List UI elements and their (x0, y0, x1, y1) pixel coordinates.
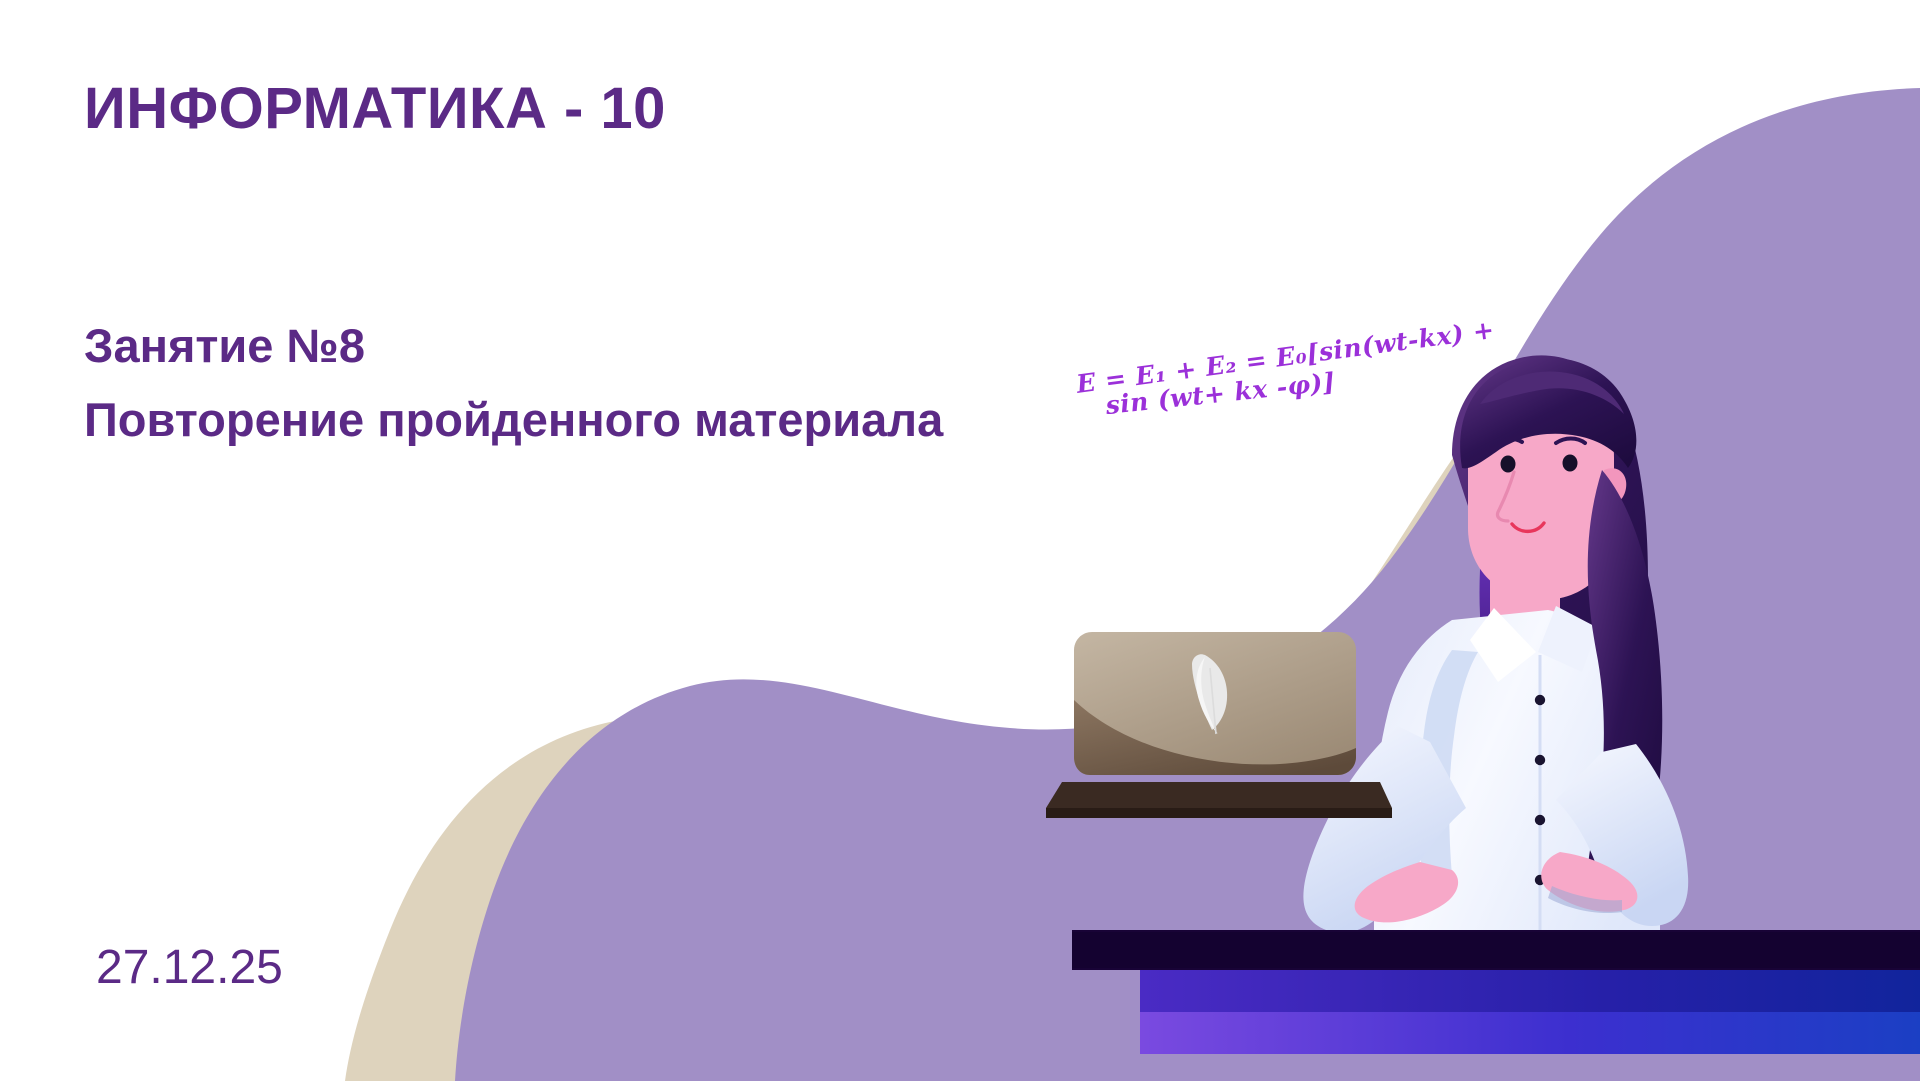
lesson-topic: Повторение пройденного материала (84, 392, 943, 447)
slide-text-layer: ИНФОРМАТИКА - 10 Занятие №8 Повторение п… (0, 0, 1920, 1081)
slide-date: 27.12.25 (96, 940, 283, 995)
handwritten-formula: E = E₁ + E₂ = E₀[sin(wt-kx) + sin (wt+ k… (1075, 317, 1506, 481)
lesson-number: Занятие №8 (84, 318, 365, 373)
presentation-slide: ИНФОРМАТИКА - 10 Занятие №8 Повторение п… (0, 0, 1920, 1081)
page-title: ИНФОРМАТИКА - 10 (84, 75, 666, 142)
